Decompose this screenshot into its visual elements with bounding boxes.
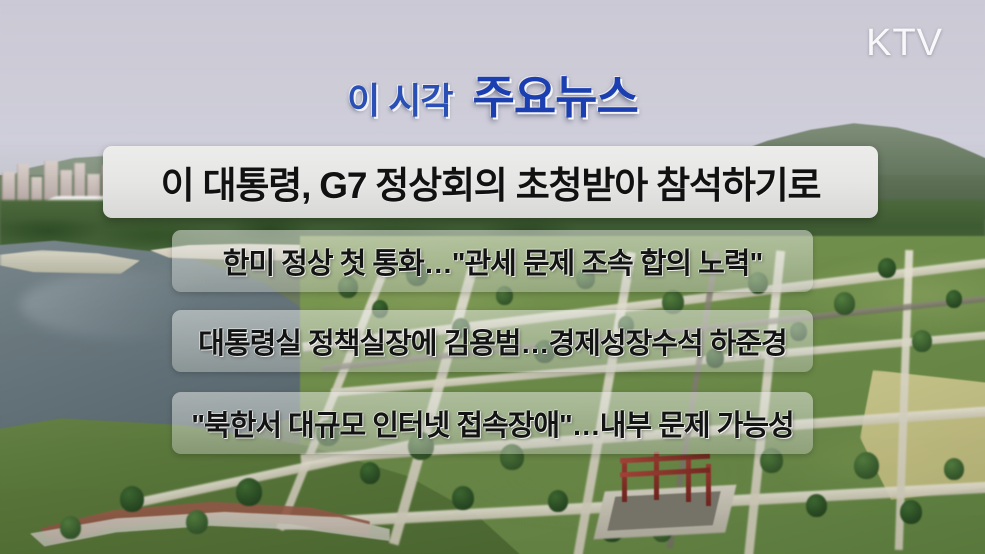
headline-text: 대통령실 정책실장에 김용범…경제성장수석 하준경 — [198, 320, 786, 362]
section-title-main: 주요뉴스 — [473, 71, 638, 123]
section-title: 이 시각주요뉴스 — [0, 74, 985, 120]
ktv-channel-logo: KTV — [866, 22, 943, 65]
broadcast-frame: KTV 이 시각주요뉴스 이 대통령, G7 정상회의 초청받아 참석하기로 한… — [0, 0, 985, 554]
lead-headline-bar[interactable]: 이 대통령, G7 정상회의 초청받아 참석하기로 — [103, 146, 878, 218]
headline-item[interactable]: "북한서 대규모 인터넷 접속장애"…내부 문제 가능성 — [172, 392, 813, 454]
section-title-prefix: 이 시각 — [347, 80, 452, 121]
headline-text: "북한서 대규모 인터넷 접속장애"…내부 문제 가능성 — [191, 402, 793, 444]
headline-item[interactable]: 한미 정상 첫 통화…"관세 문제 조속 합의 노력" — [172, 230, 813, 292]
lead-headline-text: 이 대통령, G7 정상회의 초청받아 참석하기로 — [161, 155, 821, 209]
headline-item[interactable]: 대통령실 정책실장에 김용범…경제성장수석 하준경 — [172, 310, 813, 372]
headline-text: 한미 정상 첫 통화…"관세 문제 조속 합의 노력" — [223, 240, 762, 282]
